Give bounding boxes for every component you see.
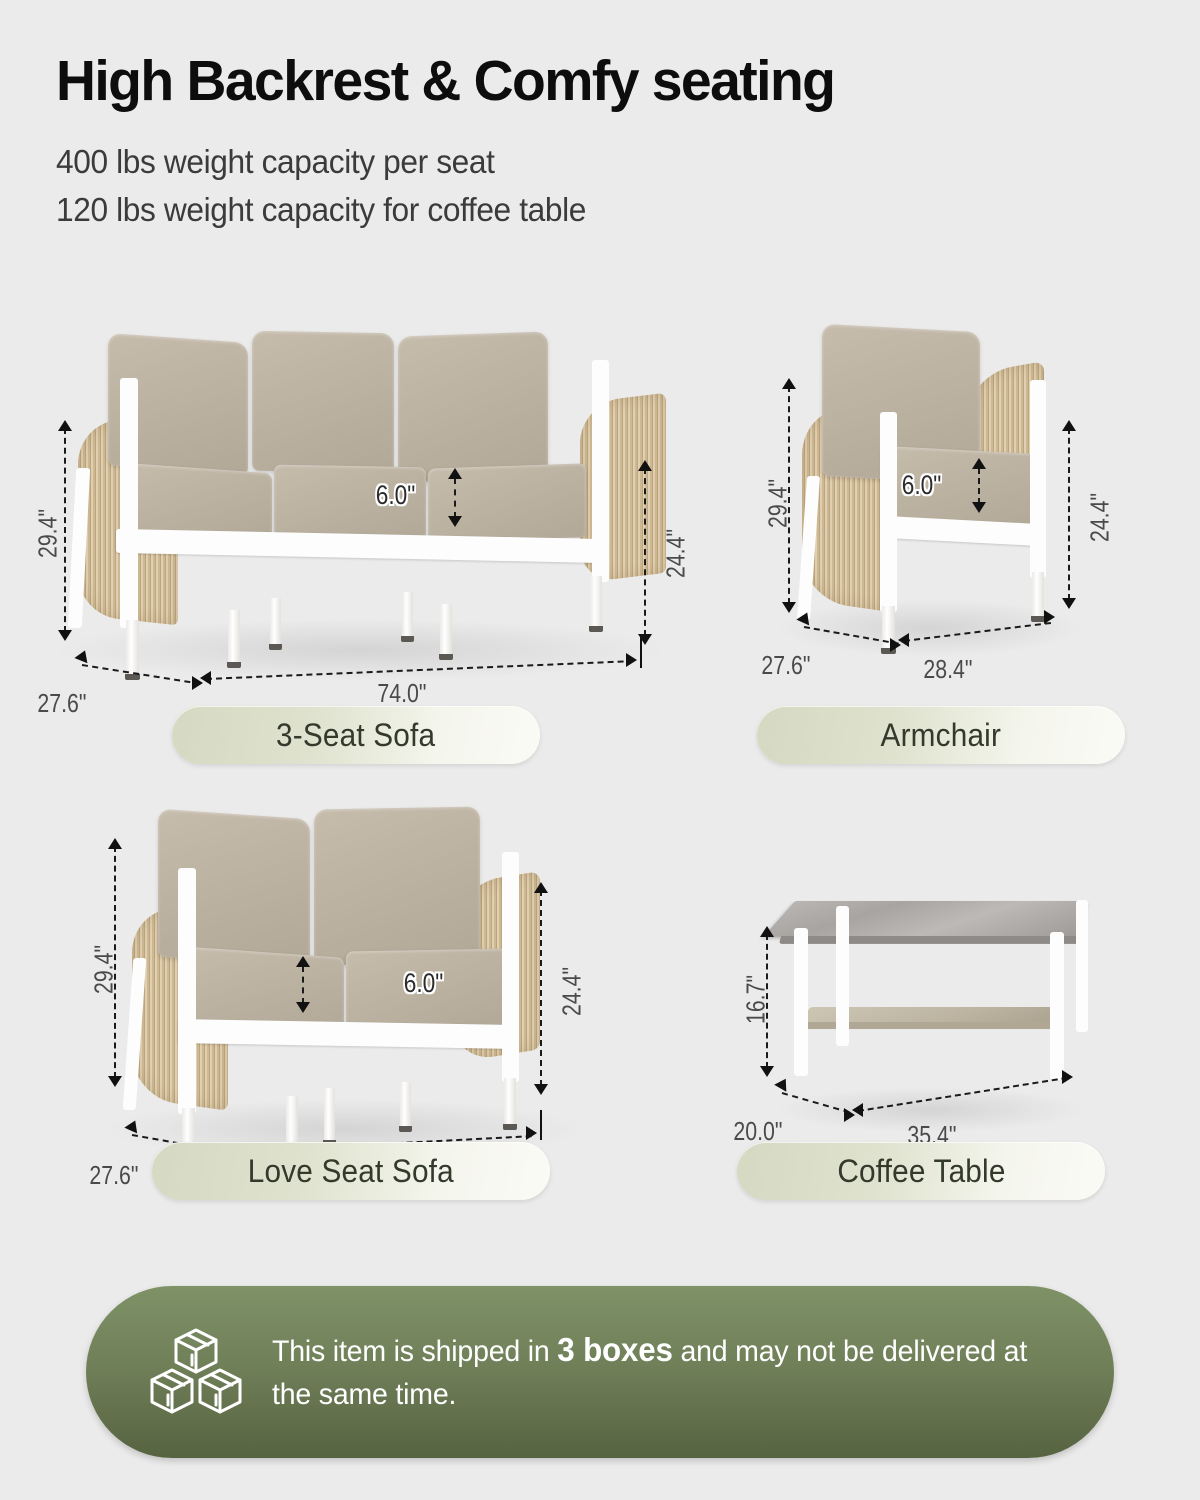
arm-post-right bbox=[592, 360, 609, 582]
dim-arrow-height-bottom bbox=[58, 630, 72, 641]
dim-label-height: 29.4" bbox=[33, 493, 64, 575]
back-cushion-3 bbox=[398, 331, 548, 482]
arm-post-left bbox=[880, 412, 897, 612]
dim-label-height: 29.4" bbox=[89, 929, 120, 1011]
dim-label-cushion: 6.0" bbox=[376, 480, 416, 511]
dim-arrow-seat-back-top bbox=[638, 460, 652, 471]
back-cushion-2 bbox=[252, 331, 394, 473]
stacked-boxes-icon bbox=[144, 1324, 248, 1420]
dim-arrow-depth-start bbox=[796, 610, 813, 626]
product-label-text: Armchair bbox=[881, 717, 1002, 754]
product-label-text: Love Seat Sofa bbox=[248, 1153, 454, 1190]
subtitle-line-2: 120 lbs weight capacity for coffee table bbox=[56, 186, 1100, 234]
product-label-text: 3-Seat Sofa bbox=[276, 717, 435, 754]
product-label-text: Coffee Table bbox=[837, 1153, 1005, 1190]
table-leg-back-right bbox=[1076, 900, 1088, 1032]
dim-arrow-height-top bbox=[108, 838, 122, 849]
dim-label-seat-back: 24.4" bbox=[557, 951, 588, 1033]
dim-line-cushion bbox=[454, 478, 456, 518]
product-love-seat-sofa: 29.4" 24.4" 6.0" 27.6" 51.2" bbox=[70, 800, 690, 1280]
dim-arrow-cushion-bottom bbox=[296, 1002, 310, 1013]
shipping-text-before: This item is shipped in bbox=[272, 1335, 557, 1368]
leg-5 bbox=[440, 604, 452, 656]
dim-label-cushion: 6.0" bbox=[404, 968, 444, 999]
leg-1 bbox=[126, 620, 139, 676]
dim-label-width: 74.0" bbox=[377, 678, 426, 709]
product-label-3-seat-sofa: 3-Seat Sofa bbox=[172, 706, 540, 764]
coffee-table-illustration: 16.7" 20.0" 35.4" bbox=[720, 870, 1170, 1270]
dim-arrow-seat-back-bottom bbox=[1062, 598, 1076, 609]
front-rail bbox=[178, 1019, 516, 1049]
dim-line-width bbox=[904, 622, 1051, 642]
leg-4 bbox=[400, 1082, 411, 1128]
product-label-love-seat-sofa: Love Seat Sofa bbox=[152, 1142, 550, 1200]
dim-arrow-cushion-bottom bbox=[448, 516, 462, 527]
product-label-armchair: Armchair bbox=[757, 706, 1125, 764]
dim-tick-width bbox=[540, 1110, 542, 1140]
dim-label-height: 29.4" bbox=[763, 463, 794, 545]
table-leg-back-left bbox=[836, 906, 849, 1046]
dim-arrow-cushion-top bbox=[296, 956, 310, 967]
dim-arrow-depth-start bbox=[74, 648, 91, 663]
product-coffee-table: 16.7" 20.0" 35.4" bbox=[720, 870, 1170, 1270]
table-leg-front-right bbox=[1050, 932, 1064, 1080]
dim-line-seat-back bbox=[644, 468, 646, 636]
table-top-edge bbox=[779, 936, 1085, 944]
leg-3 bbox=[270, 598, 281, 646]
dim-label-cushion: 6.0" bbox=[902, 470, 942, 501]
shipping-banner-text: This item is shipped in 3 boxes and may … bbox=[272, 1327, 1072, 1416]
dim-label-height: 16.7" bbox=[741, 959, 772, 1041]
shipping-banner: This item is shipped in 3 boxes and may … bbox=[86, 1286, 1114, 1458]
dim-label-seat-back: 24.4" bbox=[661, 513, 692, 595]
dim-line-depth bbox=[82, 664, 201, 685]
subtitle-block: 400 lbs weight capacity per seat 120 lbs… bbox=[56, 138, 1144, 234]
page-title: High Backrest & Comfy seating bbox=[56, 52, 1111, 112]
dim-arrow-cushion-bottom bbox=[972, 502, 986, 513]
dim-label-width: 28.4" bbox=[923, 654, 972, 685]
arm-post-left bbox=[178, 868, 196, 1114]
arm-post-right bbox=[502, 852, 519, 1082]
dim-arrow-width-end bbox=[526, 1126, 537, 1140]
dim-line-height bbox=[64, 428, 66, 632]
dim-arrow-height-top bbox=[58, 420, 72, 431]
dim-arrow-depth-start bbox=[124, 1118, 141, 1134]
dim-arrow-height-bottom bbox=[108, 1076, 122, 1087]
dim-arrow-height-bottom bbox=[782, 602, 796, 613]
dim-line-depth bbox=[782, 1092, 850, 1113]
leg-5 bbox=[504, 1078, 516, 1126]
dim-label-depth: 27.6" bbox=[761, 650, 810, 681]
dim-arrow-seat-back-bottom bbox=[534, 1084, 548, 1095]
dim-arrow-width-start bbox=[852, 1103, 863, 1117]
dim-label-depth: 27.6" bbox=[37, 688, 86, 719]
dim-arrow-seat-back-top bbox=[1062, 420, 1076, 431]
dim-arrow-seat-back-top bbox=[534, 882, 548, 893]
leg-6 bbox=[590, 576, 602, 628]
table-top bbox=[763, 901, 1086, 937]
dim-arrow-cushion-top bbox=[972, 458, 986, 469]
dim-arrow-height-top bbox=[782, 378, 796, 389]
subtitle-line-1: 400 lbs weight capacity per seat bbox=[56, 138, 1100, 186]
dim-line-cushion bbox=[302, 966, 304, 1004]
dim-label-depth: 27.6" bbox=[89, 1160, 138, 1191]
product-label-coffee-table: Coffee Table bbox=[737, 1142, 1105, 1200]
arm-post-left bbox=[120, 378, 138, 628]
dim-line-seat-back bbox=[540, 890, 542, 1086]
dim-line-width bbox=[858, 1077, 1068, 1112]
dim-arrow-width-start bbox=[898, 633, 909, 647]
arm-post-right bbox=[1030, 380, 1046, 578]
leg-3 bbox=[324, 1088, 335, 1142]
shipping-boxes-count: 3 boxes bbox=[557, 1331, 672, 1368]
dim-arrow-width-end bbox=[1062, 1070, 1073, 1084]
dim-line-width bbox=[206, 660, 634, 680]
back-cushion-2 bbox=[314, 807, 480, 966]
dim-tick-width bbox=[640, 636, 642, 668]
table-leg-front-left bbox=[794, 928, 808, 1076]
dim-arrow-width-end bbox=[626, 653, 637, 667]
dim-arrow-height-bottom bbox=[760, 1066, 774, 1077]
leg-4 bbox=[402, 592, 413, 638]
dim-arrow-depth-start bbox=[774, 1075, 792, 1092]
dim-line-seat-back bbox=[1068, 428, 1070, 600]
leg-2 bbox=[286, 1096, 298, 1146]
leg-2 bbox=[1032, 572, 1044, 618]
dim-arrow-width-end bbox=[1044, 610, 1055, 624]
header: High Backrest & Comfy seating 400 lbs we… bbox=[0, 0, 1200, 234]
dim-arrow-height-top bbox=[760, 926, 774, 937]
leg-2 bbox=[228, 610, 240, 664]
dim-label-seat-back: 24.4" bbox=[1085, 477, 1116, 559]
dim-arrow-width-start bbox=[200, 671, 211, 685]
dim-line-cushion bbox=[978, 468, 980, 504]
dim-arrow-cushion-top bbox=[448, 468, 462, 479]
love-seat-illustration: 29.4" 24.4" 6.0" 27.6" 51.2" bbox=[70, 800, 690, 1280]
